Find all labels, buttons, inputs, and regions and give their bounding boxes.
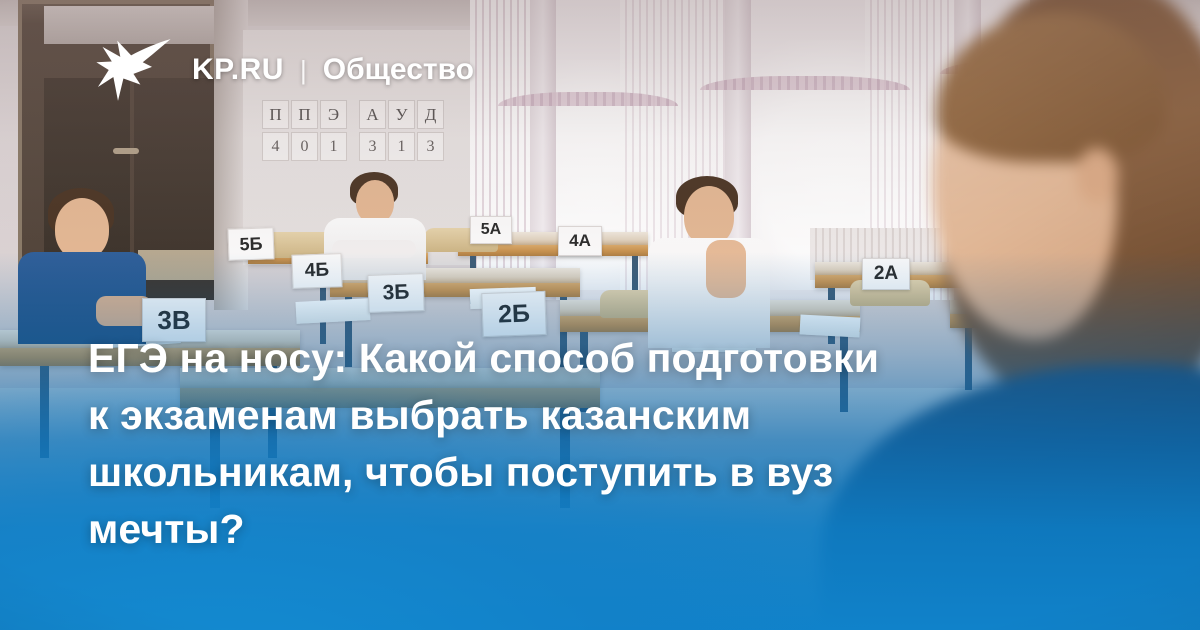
placard-letter: П <box>262 100 289 129</box>
person-ear <box>1076 148 1118 204</box>
student-hands <box>706 240 746 298</box>
brand-text-group: KP.RU | Общество <box>192 53 474 87</box>
placard-row-digits: 4 0 1 3 1 3 <box>262 132 444 161</box>
placard-gap <box>349 132 357 159</box>
page-title[interactable]: ЕГЭ на носу: Какой способ подготовки к э… <box>88 330 1078 558</box>
placard-digit: 4 <box>262 132 289 161</box>
social-share-card: П П Э А У Д 4 0 1 3 1 3 <box>0 0 1200 630</box>
door-kickplate <box>138 250 224 280</box>
brand-separator: | <box>300 55 307 86</box>
headline-line-2: к экзаменам выбрать казанским <box>88 387 1078 444</box>
brand-name[interactable]: KP.RU <box>192 53 284 87</box>
window-valance <box>498 92 678 106</box>
desk-sign: 4Б <box>291 253 342 289</box>
brand-header[interactable]: KP.RU | Общество <box>96 36 474 104</box>
student-head <box>55 198 109 260</box>
desk-sign: 5А <box>470 216 512 244</box>
headline-line-3: школьникам, чтобы поступить в вуз <box>88 444 1078 501</box>
headline-line-1: ЕГЭ на носу: Какой способ подготовки <box>88 330 1078 387</box>
placard-row-letters: П П Э А У Д <box>262 100 444 129</box>
placard-letter: А <box>359 100 386 129</box>
desk-sign: 3Б <box>367 273 424 313</box>
placard-digit: 0 <box>291 132 318 161</box>
student-head <box>684 186 734 246</box>
window-valance <box>700 76 910 90</box>
exam-paper <box>295 298 370 324</box>
placard-digit: 3 <box>359 132 386 161</box>
placard-letter: Д <box>417 100 444 129</box>
brand-section[interactable]: Общество <box>323 53 474 87</box>
desk-sign: 5Б <box>227 227 274 261</box>
swallow-bird-icon <box>96 36 174 104</box>
placard-letter: П <box>291 100 318 129</box>
desk-sign: 4А <box>558 226 602 256</box>
student-arms <box>332 240 416 258</box>
placard-digit: 3 <box>417 132 444 161</box>
placard-letter: Э <box>320 100 347 129</box>
door-handle <box>113 148 139 154</box>
exam-room-placards: П П Э А У Д 4 0 1 3 1 3 <box>262 100 444 161</box>
placard-digit: 1 <box>320 132 347 161</box>
placard-letter: У <box>388 100 415 129</box>
placard-digit: 1 <box>388 132 415 161</box>
desk-leg <box>40 366 49 458</box>
placard-gap <box>349 100 357 127</box>
headline-line-4: мечты? <box>88 501 1078 558</box>
